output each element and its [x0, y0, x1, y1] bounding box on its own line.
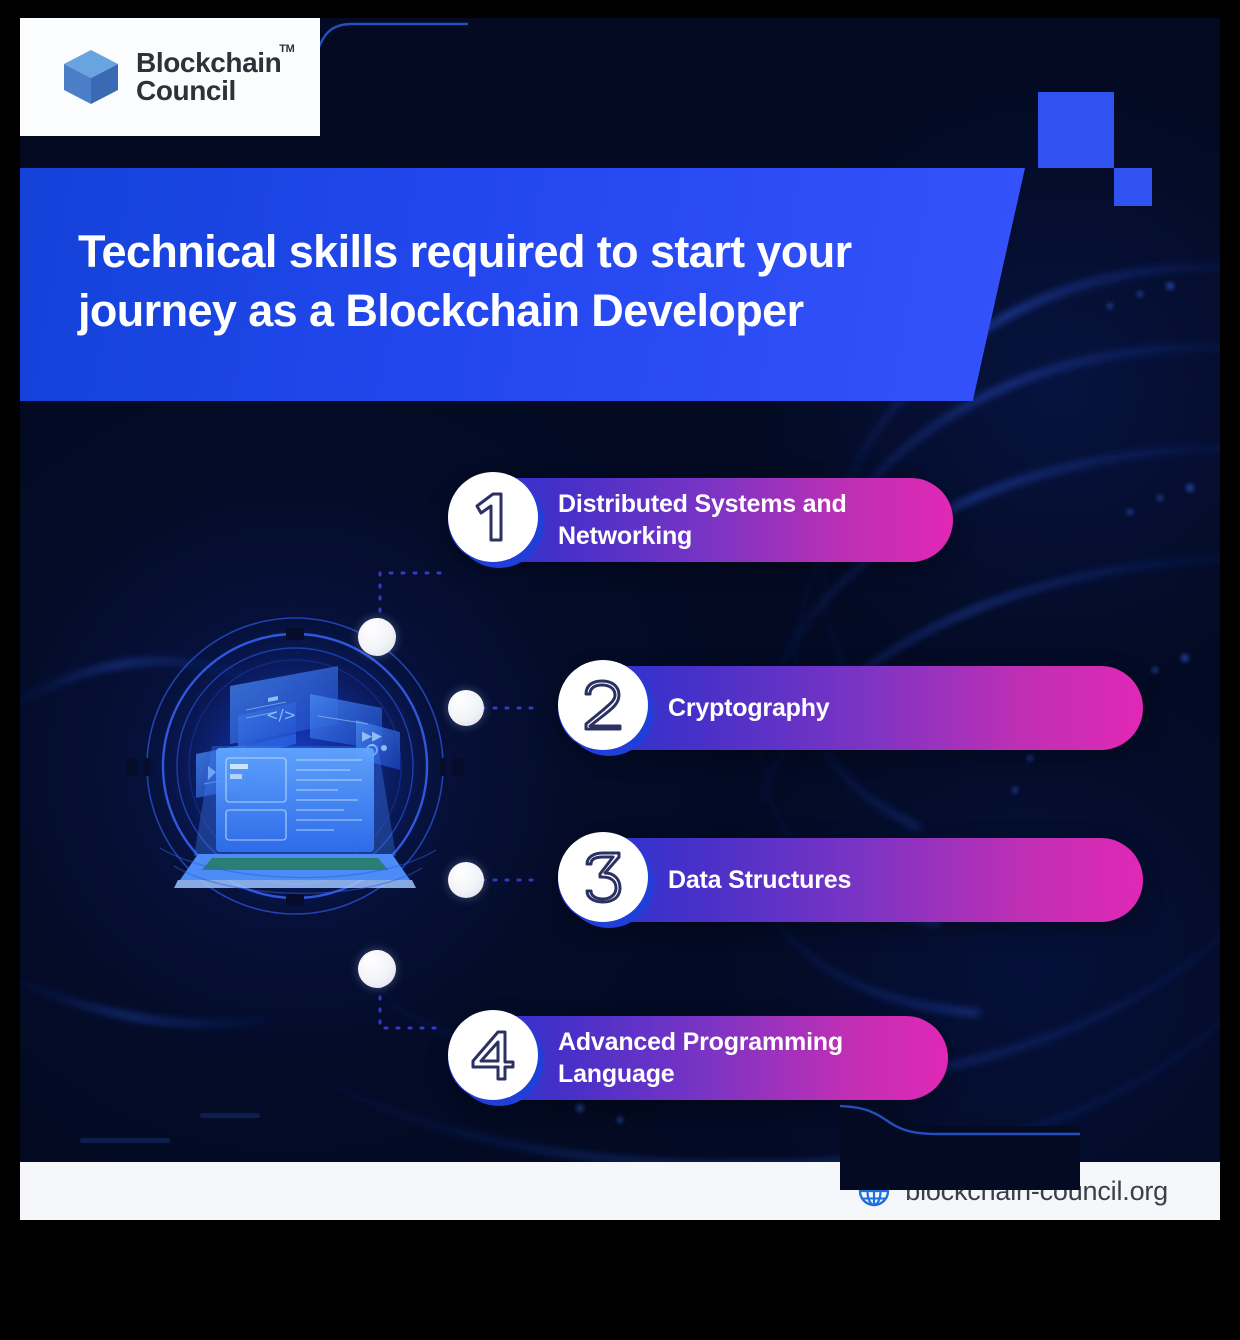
number-1-outline [465, 486, 521, 548]
number-3-outline [575, 846, 631, 908]
decorative-square-small [1114, 168, 1152, 206]
svg-text:</>: </> [266, 706, 296, 724]
trademark-symbol: TM [279, 44, 294, 55]
skill-item-4[interactable]: Advanced Programming Language [448, 1016, 948, 1100]
skill-label-1: Distributed Systems and Networking [558, 488, 919, 552]
connector-node-3 [448, 862, 484, 898]
skill-badge-2 [558, 660, 654, 756]
number-2-outline [575, 674, 631, 736]
title-banner: Technical skills required to start your … [20, 168, 1025, 401]
laptop-hud-illustration: </> ▶▶ [100, 598, 500, 938]
skill-badge-3 [558, 832, 654, 928]
skill-item-1[interactable]: Distributed Systems and Networking [448, 478, 953, 562]
skill-label-2: Cryptography [668, 692, 830, 724]
svg-text:▶▶: ▶▶ [362, 729, 382, 744]
connector-node-4 [358, 950, 396, 988]
infographic-canvas: Blockchain TM Council Technical skills r… [20, 18, 1220, 1220]
number-4-outline [465, 1024, 521, 1086]
skill-item-3[interactable]: Data Structures [558, 838, 1143, 922]
skill-label-4: Advanced Programming Language [558, 1026, 914, 1090]
skill-badge-1 [448, 472, 544, 568]
cube-icon [60, 46, 122, 108]
brand-logo-band: Blockchain TM Council [20, 18, 320, 136]
brand-line-2: Council [136, 77, 281, 105]
connector-node-2 [448, 690, 484, 726]
skill-item-2[interactable]: Cryptography [558, 666, 1143, 750]
decorative-square-large [1038, 92, 1114, 168]
page-title: Technical skills required to start your … [20, 168, 970, 341]
brand-line-1: Blockchain [136, 47, 281, 78]
skill-badge-4 [448, 1010, 544, 1106]
brand-name: Blockchain TM Council [136, 49, 281, 105]
footer-curve-decoration [840, 1100, 1080, 1190]
connector-node-1 [358, 618, 396, 656]
skill-label-3: Data Structures [668, 864, 851, 896]
